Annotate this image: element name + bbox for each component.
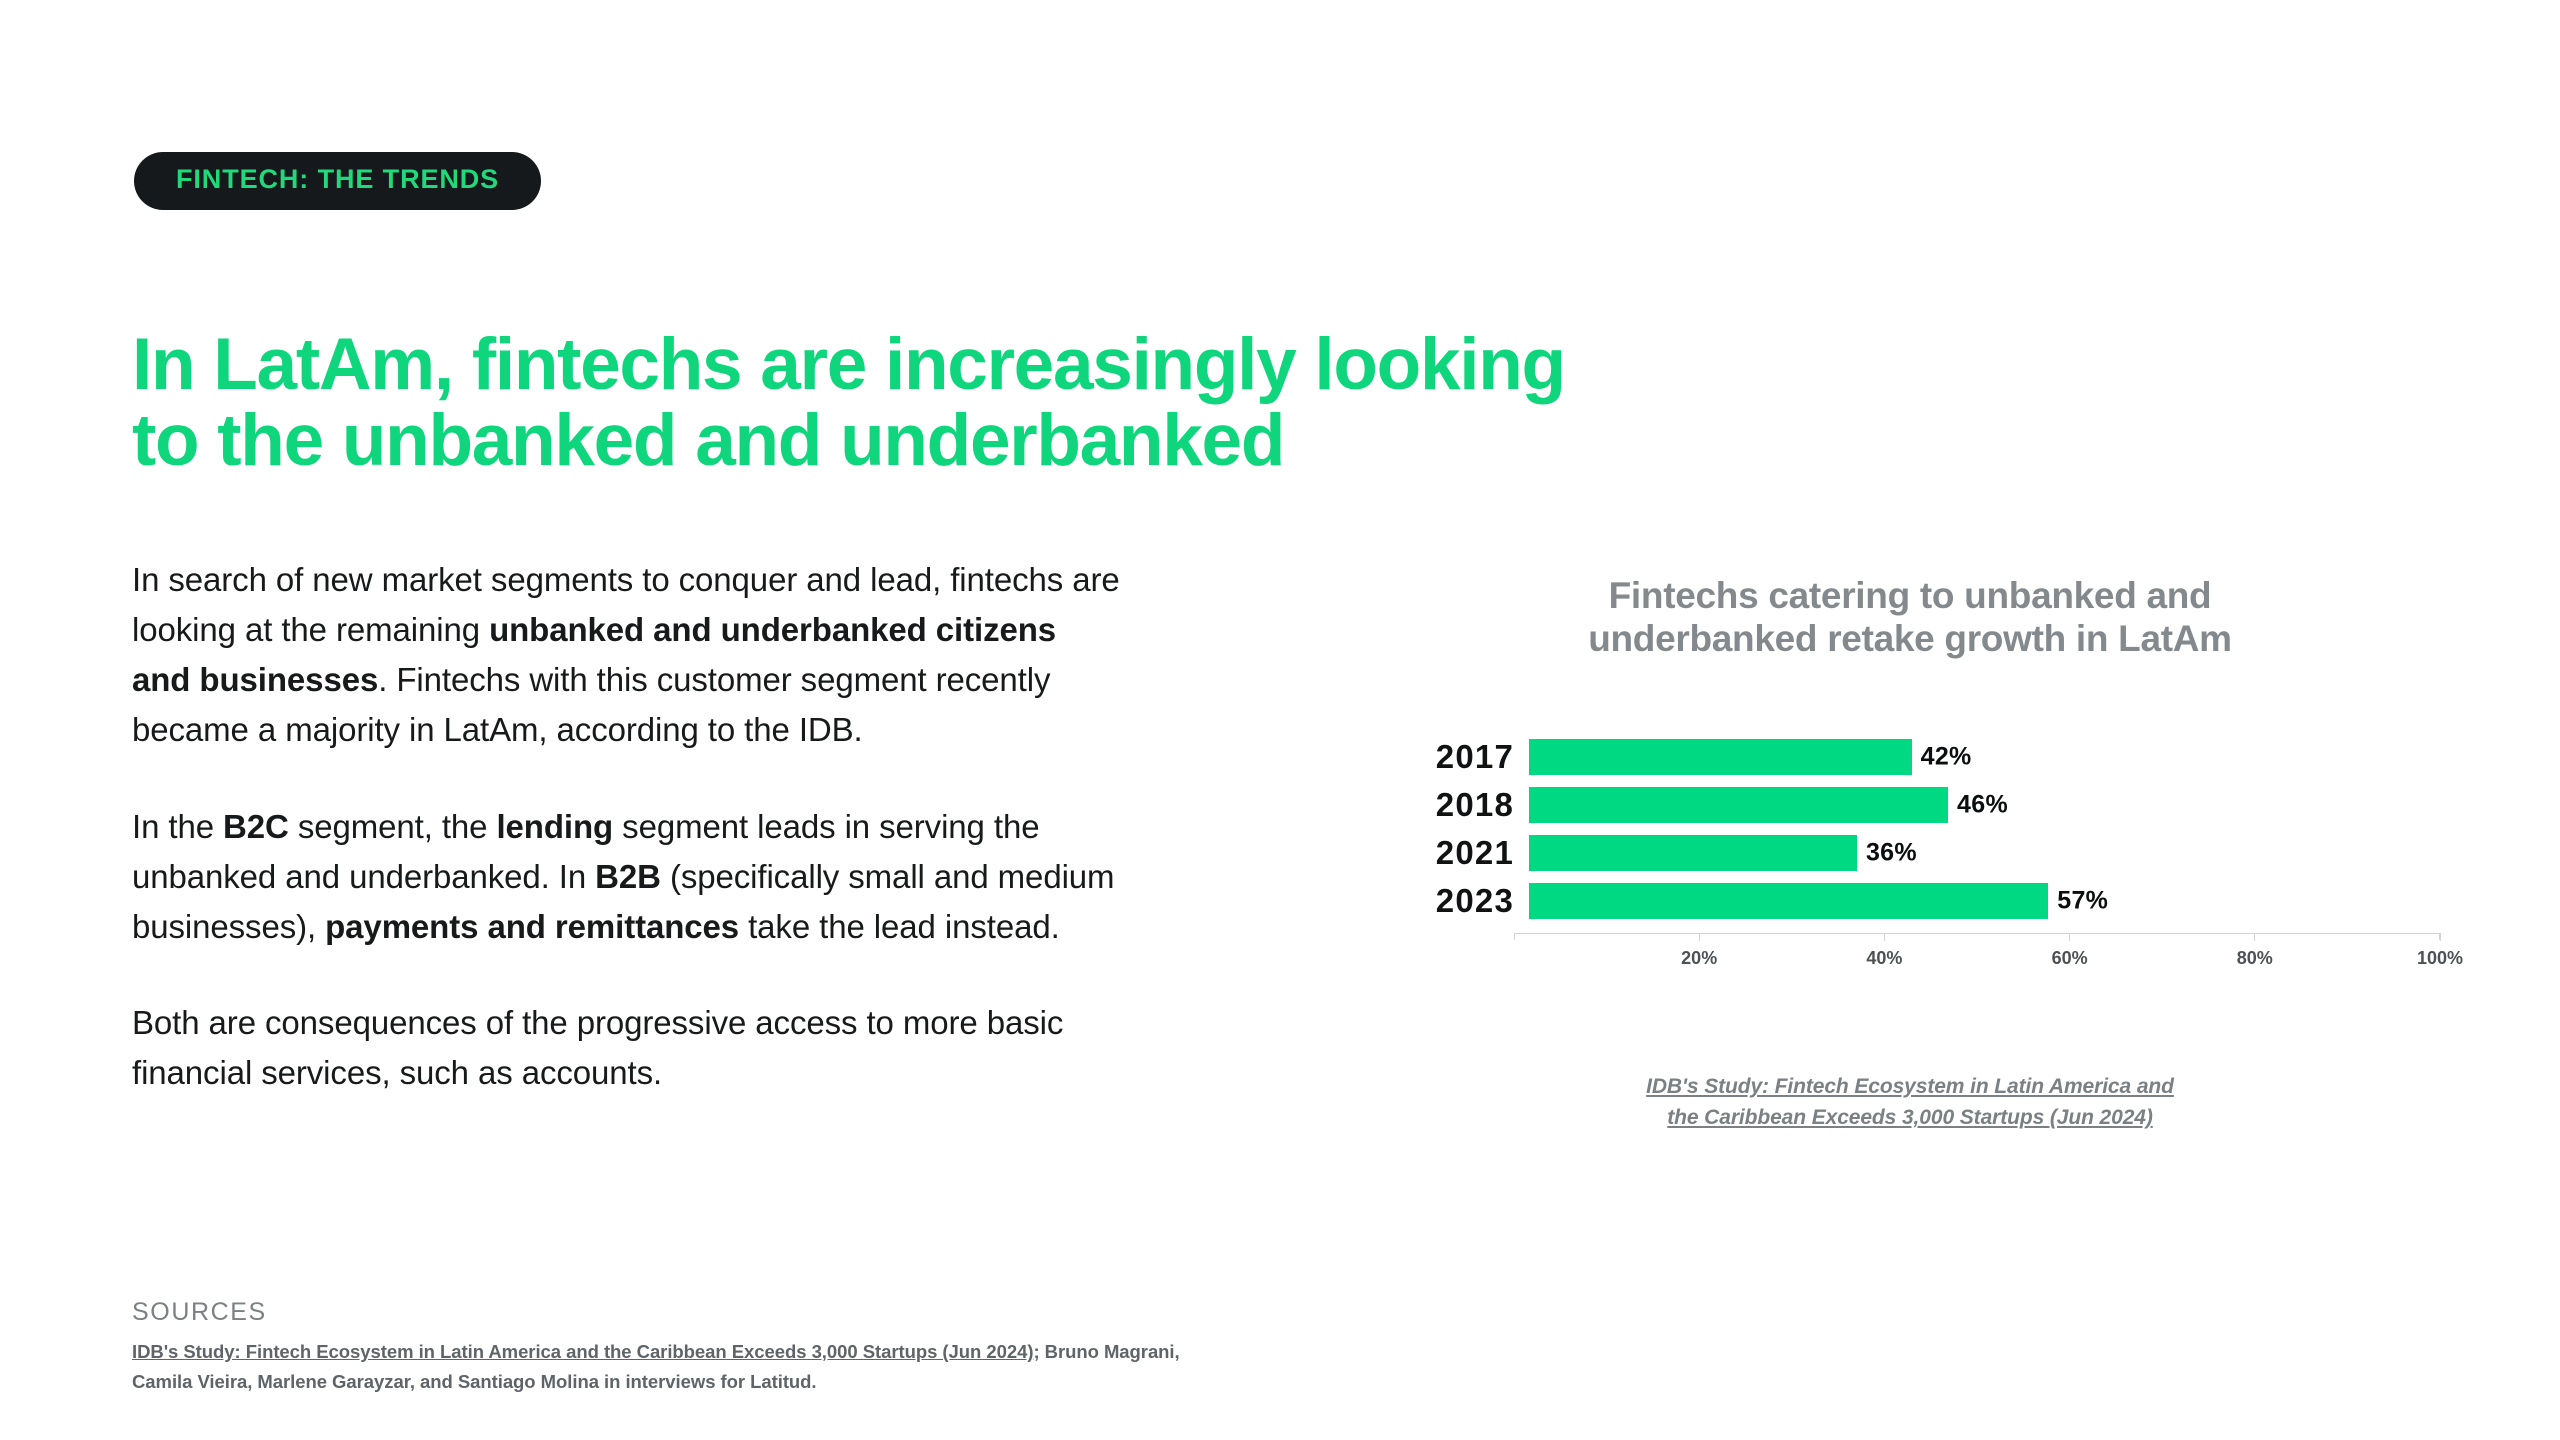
bar-row: 202357% [1392,883,2440,919]
bar-fill [1529,787,1948,823]
chart-panel: Fintechs catering to unbanked and underb… [1380,575,2440,1134]
paragraph-2: In the B2C segment, the lending segment … [132,802,1122,952]
bar-track: 42% [1529,739,2440,775]
page-title-line-2: to the unbanked and underbanked [132,403,1892,479]
bar-row: 201846% [1392,787,2440,823]
paragraph-2-bold-4: payments and remittances [325,908,739,945]
x-axis-tick-label: 100% [2417,948,2463,969]
chart-title: Fintechs catering to unbanked and underb… [1380,575,2440,661]
bar-category-label: 2023 [1392,884,1529,917]
chart-source-caption-line-1: IDB's Study: Fintech Ecosystem in Latin … [1380,1071,2440,1103]
bar-value-label: 36% [1866,838,1917,867]
chart-source-caption[interactable]: IDB's Study: Fintech Ecosystem in Latin … [1380,1071,2440,1134]
x-axis-tick-label: 80% [2237,948,2273,969]
chart-title-line-2: underbanked retake growth in LatAm [1380,618,2440,661]
bar-value-label: 57% [2057,886,2108,915]
paragraph-2-part-2: segment, the [289,808,497,845]
page-title: In LatAm, fintechs are increasingly look… [132,327,1892,479]
bar-track: 36% [1529,835,2440,871]
x-axis-tick-mark [1884,933,1885,941]
x-axis-tick-mark [2439,933,2440,941]
sources-text: IDB's Study: Fintech Ecosystem in Latin … [132,1337,1242,1396]
bar-row: 201742% [1392,739,2440,775]
chart-title-line-1: Fintechs catering to unbanked and [1380,575,2440,618]
x-axis-tick: 60% [2052,933,2088,969]
bar-fill [1529,835,1857,871]
x-axis-tick-label: 60% [2052,948,2088,969]
sources-label: SOURCES [132,1298,1242,1327]
bar-track: 57% [1529,883,2440,919]
x-axis-line [1514,933,2440,934]
x-axis-tick: 40% [1866,933,1902,969]
bar-value-label: 46% [1957,790,2008,819]
bar-category-label: 2018 [1392,788,1529,821]
paragraph-2-part-1: In the [132,808,223,845]
x-axis: 20%40%60%80%100% [1514,933,2440,979]
paragraph-3: Both are consequences of the progressive… [132,998,1122,1098]
paragraph-2-bold-1: B2C [223,808,289,845]
x-axis-tick-label: 40% [1866,948,1902,969]
x-axis-tick-label: 20% [1681,948,1717,969]
section-badge: FINTECH: THE TRENDS [134,152,541,210]
paragraph-2-part-5: take the lead instead. [739,908,1060,945]
body-copy: In search of new market segments to conq… [132,555,1122,1098]
paragraph-2-bold-3: B2B [595,858,661,895]
bar-track: 46% [1529,787,2440,823]
chart-source-caption-line-2: the Caribbean Exceeds 3,000 Startups (Ju… [1380,1102,2440,1134]
bar-category-label: 2021 [1392,836,1529,869]
x-axis-tick: 20% [1681,933,1717,969]
section-badge-label: FINTECH: THE TRENDS [176,164,499,194]
x-axis-tick-mark [2254,933,2255,941]
bar-chart-plot: 201742%201846%202136%202357% 20%40%60%80… [1392,739,2440,979]
bar-fill [1529,739,1912,775]
x-axis-tick: 100% [2417,933,2463,969]
x-axis-tick: 80% [2237,933,2273,969]
bar-list: 201742%201846%202136%202357% [1392,739,2440,919]
bar-row: 202136% [1392,835,2440,871]
bar-fill [1529,883,2048,919]
x-axis-tick-mark [2069,933,2070,941]
paragraph-2-bold-2: lending [496,808,613,845]
sources-section: SOURCES IDB's Study: Fintech Ecosystem i… [132,1298,1242,1396]
page-title-line-1: In LatAm, fintechs are increasingly look… [132,327,1892,403]
bar-category-label: 2017 [1392,740,1529,773]
bar-value-label: 42% [1921,742,1972,771]
x-axis-tick-mark [1699,933,1700,941]
paragraph-1: In search of new market segments to conq… [132,555,1122,756]
sources-link[interactable]: IDB's Study: Fintech Ecosystem in Latin … [132,1341,1033,1362]
x-axis-cap-left [1514,933,1515,940]
